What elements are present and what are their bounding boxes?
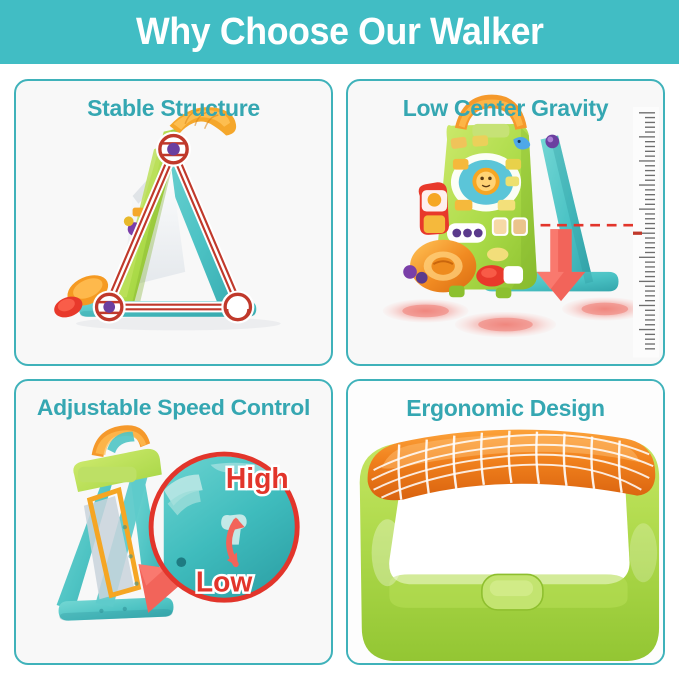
art-walker-side-triangle	[16, 81, 331, 364]
panel-stable-structure: Stable Structure	[14, 79, 333, 366]
panel-low-center-gravity: Low Center Gravity	[346, 79, 665, 366]
panel-title-low-center-gravity: Low Center Gravity	[348, 95, 663, 122]
infographic-root: Why Choose Our Walker Stable Structure	[0, 0, 679, 679]
panel-ergonomic-design: Ergonomic Design	[346, 379, 665, 666]
art-handlebar-closeup	[348, 381, 663, 664]
panel-title-stable-structure: Stable Structure	[16, 95, 331, 122]
speed-label-low: Low	[196, 565, 254, 597]
panel-title-ergonomic-design: Ergonomic Design	[348, 395, 663, 422]
speed-label-high: High	[226, 462, 289, 494]
panel-adjustable-speed-control: Adjustable Speed Control	[14, 379, 333, 666]
feature-panel-grid: Stable Structure	[0, 64, 679, 679]
height-ruler	[633, 107, 659, 358]
page-title: Why Choose Our Walker	[136, 13, 544, 51]
art-speed-control: High Low	[16, 381, 331, 664]
stability-ripples	[383, 297, 648, 337]
header-banner: Why Choose Our Walker	[0, 0, 679, 64]
art-walker-front-gravity	[348, 81, 663, 364]
panel-title-adjustable-speed-control: Adjustable Speed Control	[14, 395, 333, 421]
